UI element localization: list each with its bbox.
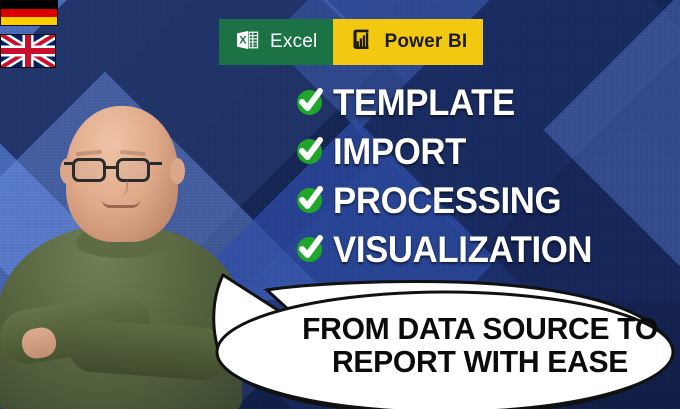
power-bi-badge-label: Power BI: [384, 31, 467, 53]
united-kingdom-flag: [0, 34, 56, 68]
software-badges: X Excel: [219, 19, 483, 65]
speech-bubble-line-2: REPORT WITH EASE: [228, 345, 680, 378]
eyeglasses-left-lens: [72, 158, 106, 182]
speech-bubble: FROM DATA SOURCE TO REPORT WITH EASE: [155, 262, 680, 409]
feature-list: TEMPLATE IMPORT PROCESSING: [297, 80, 609, 272]
check-circle-icon: [297, 90, 322, 115]
check-circle-icon: [297, 188, 322, 213]
svg-text:X: X: [239, 34, 247, 46]
feature-label-import: IMPORT: [333, 133, 466, 170]
check-circle-icon: [297, 237, 322, 262]
power-bi-badge[interactable]: Power BI: [333, 19, 483, 65]
feature-label-processing: PROCESSING: [333, 182, 561, 219]
excel-badge-label: Excel: [270, 31, 317, 53]
feature-label-template: TEMPLATE: [333, 84, 515, 121]
germany-flag: [0, 0, 58, 26]
excel-badge[interactable]: X Excel: [219, 19, 333, 65]
feature-item-processing: PROCESSING: [297, 178, 609, 223]
feature-item-import: IMPORT: [297, 129, 609, 174]
speech-bubble-line-1: FROM DATA SOURCE TO: [302, 311, 658, 346]
check-circle-icon: [297, 139, 322, 164]
excel-icon: X: [235, 27, 261, 58]
feature-item-template: TEMPLATE: [297, 80, 609, 125]
promo-banner: X Excel: [0, 0, 680, 409]
eyeglasses-right-lens: [116, 158, 150, 182]
speech-bubble-text: FROM DATA SOURCE TO REPORT WITH EASE: [228, 312, 680, 379]
power-bi-icon: [349, 27, 375, 57]
